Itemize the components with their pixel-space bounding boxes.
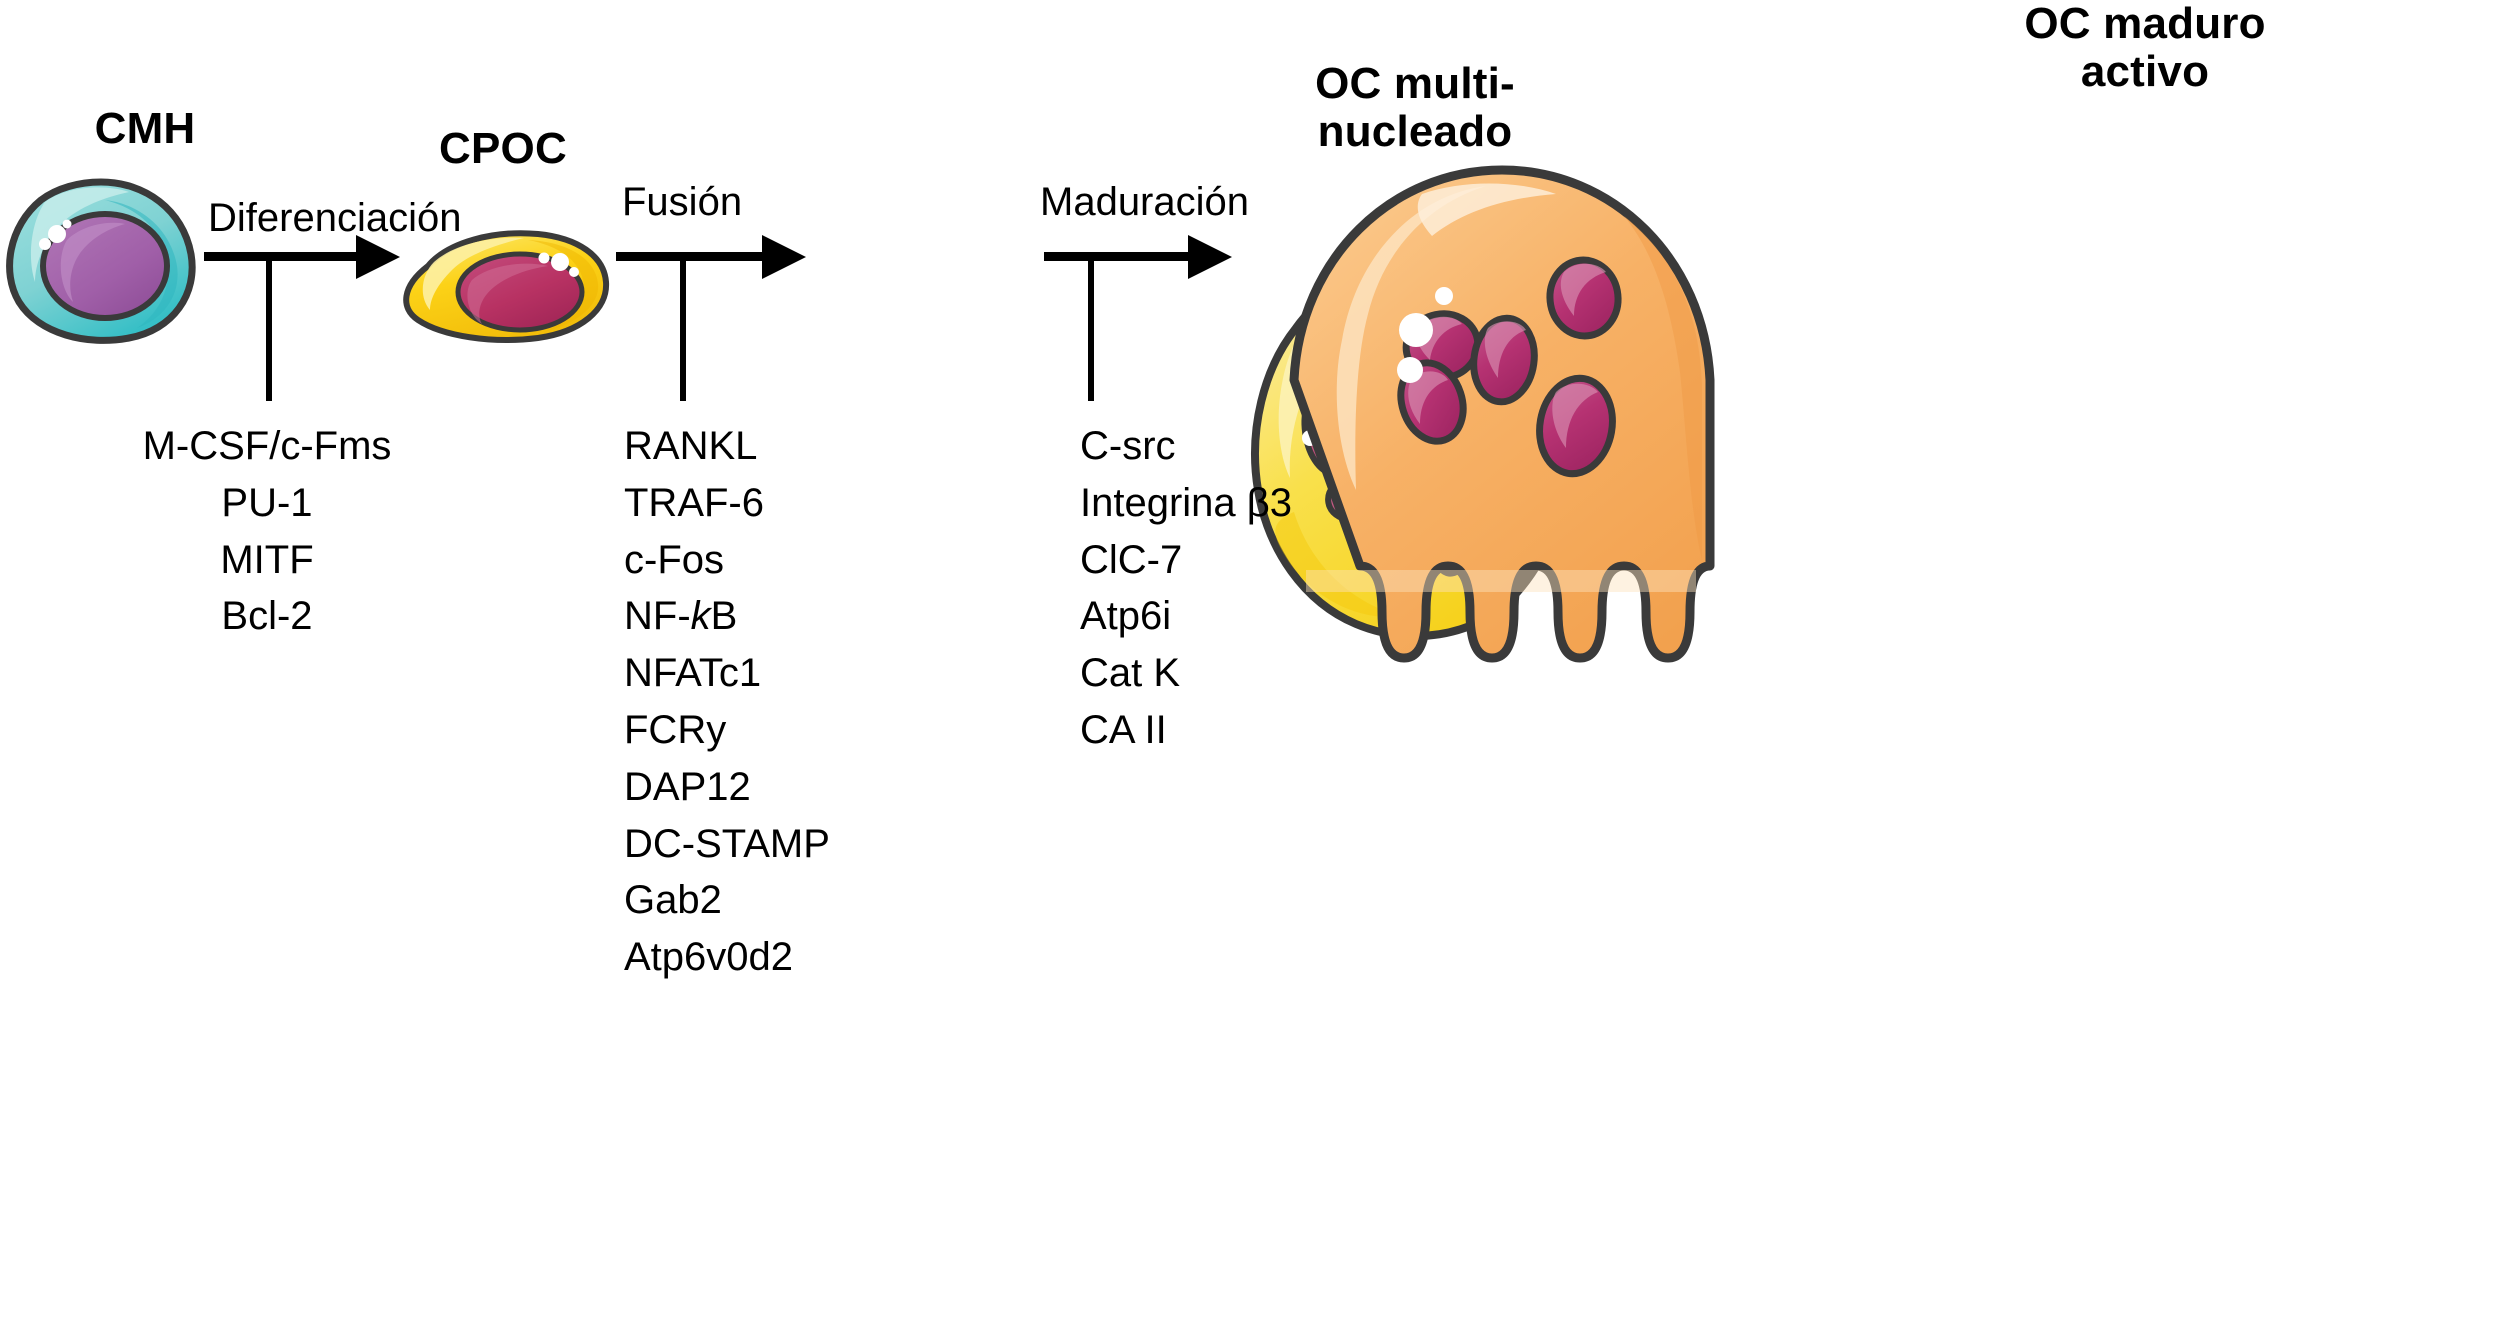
stage-title-cpoc: CPOC	[358, 125, 648, 173]
marker-item-nfkb: NF-kB	[624, 588, 964, 645]
nfkb-italic-k: k	[691, 594, 711, 638]
marker-list-differentiation: M-CSF/c-Fms PU-1 MITF Bcl-2	[122, 418, 412, 645]
marker-item: Bcl-2	[122, 588, 412, 645]
diagram-canvas: CMH D	[0, 0, 2504, 1343]
hematopoietic-stem-cell-illustration	[5, 178, 200, 343]
transition-label-fusion: Fusión	[622, 182, 742, 222]
nfkb-suffix: B	[711, 594, 738, 638]
marker-item: CA II	[1080, 702, 1420, 759]
marker-item: NFATc1	[624, 645, 964, 702]
stage-title-cmh: CMH	[0, 105, 290, 153]
arrow-tick	[680, 261, 686, 401]
arrow-shaft	[204, 252, 362, 261]
marker-item: Atp6v0d2	[624, 929, 964, 986]
marker-item: RANKL	[624, 418, 964, 475]
mature-active-osteoclast-illustration	[1272, 130, 1732, 690]
stage-title-oc-mature-active: OC maduro activo	[1920, 0, 2370, 95]
arrow-head	[762, 235, 806, 279]
marker-item: Gab2	[624, 872, 964, 929]
arrow-shaft	[1044, 252, 1194, 261]
nfkb-prefix: NF-	[624, 594, 691, 638]
marker-item: M-CSF/c-Fms	[122, 418, 412, 475]
arrow-shaft	[616, 252, 768, 261]
osteoclast-precursor-cell-illustration	[398, 228, 610, 342]
arrow-head	[1188, 235, 1232, 279]
marker-item: TRAF-6	[624, 475, 964, 532]
marker-item: FCRy	[624, 702, 964, 759]
arrow-head	[356, 235, 400, 279]
arrow-fusion	[616, 252, 806, 260]
arrow-differentiation	[204, 252, 400, 260]
arrow-maturation	[1044, 252, 1234, 260]
arrow-tick	[266, 261, 272, 401]
marker-list-fusion: RANKL TRAF-6 c-Fos NF-kB NFATc1 FCRy DAP…	[624, 418, 964, 986]
marker-item: DC-STAMP	[624, 816, 964, 873]
arrow-tick	[1088, 261, 1094, 401]
marker-item: DAP12	[624, 759, 964, 816]
marker-item: MITF	[122, 532, 412, 589]
marker-item: c-Fos	[624, 532, 964, 589]
marker-item: PU-1	[122, 475, 412, 532]
transition-label-maturation: Maduración	[1040, 182, 1249, 222]
